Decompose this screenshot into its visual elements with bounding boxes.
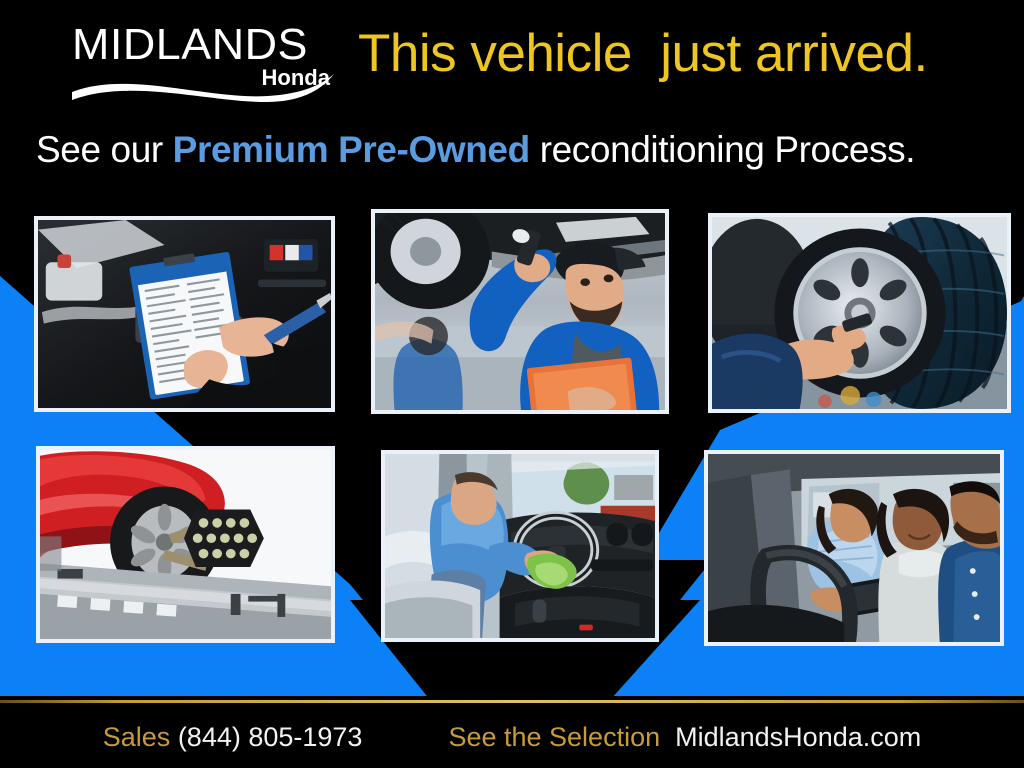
alignment-rack-image: [40, 450, 331, 639]
engine-bay-checklist-image: [38, 220, 331, 408]
gallery-photo-wheel-alignment[interactable]: [36, 446, 335, 643]
banner-footer: Sales (844) 805-1973 See the Selection M…: [0, 704, 1024, 768]
subheadline-suffix: reconditioning Process.: [530, 129, 915, 170]
mechanic-undercar-image: [375, 213, 665, 410]
page-title: This vehicle just arrived.: [358, 26, 928, 82]
promotional-banner: MIDLANDS Honda This vehicle just arrived…: [0, 0, 1024, 768]
logo-swoosh-icon: [68, 66, 340, 102]
sales-label: Sales: [103, 720, 171, 754]
gallery-photo-customer-delivery[interactable]: [704, 450, 1004, 646]
gallery-photo-wheel-and-tire-inspection[interactable]: [708, 213, 1011, 413]
logo-wordmark: MIDLANDS: [72, 22, 343, 68]
gallery-photo-interior-detailing[interactable]: [381, 450, 659, 642]
banner-header: MIDLANDS Honda This vehicle just arrived…: [0, 0, 1024, 188]
subheadline-prefix: See our: [36, 129, 173, 170]
website-url[interactable]: MidlandsHonda.com: [675, 720, 921, 754]
gallery-photo-undercarriage-inspection[interactable]: [371, 209, 669, 414]
wheel-inspection-image: [712, 217, 1007, 409]
customer-handoff-image: [708, 454, 1000, 642]
gallery-photo-inspection-checklist[interactable]: [34, 216, 335, 412]
dealer-logo: MIDLANDS Honda: [72, 22, 338, 100]
sales-contact[interactable]: Sales (844) 805-1973: [103, 720, 363, 754]
sales-phone[interactable]: (844) 805-1973: [178, 720, 363, 754]
detailing-image: [385, 454, 655, 638]
selection-label: See the Selection: [448, 720, 660, 754]
subheadline-highlight: Premium Pre-Owned: [173, 129, 530, 170]
selection-link[interactable]: See the Selection MidlandsHonda.com: [448, 720, 921, 754]
subheadline: See our Premium Pre-Owned reconditioning…: [36, 128, 915, 172]
footer-divider: [0, 700, 1024, 703]
